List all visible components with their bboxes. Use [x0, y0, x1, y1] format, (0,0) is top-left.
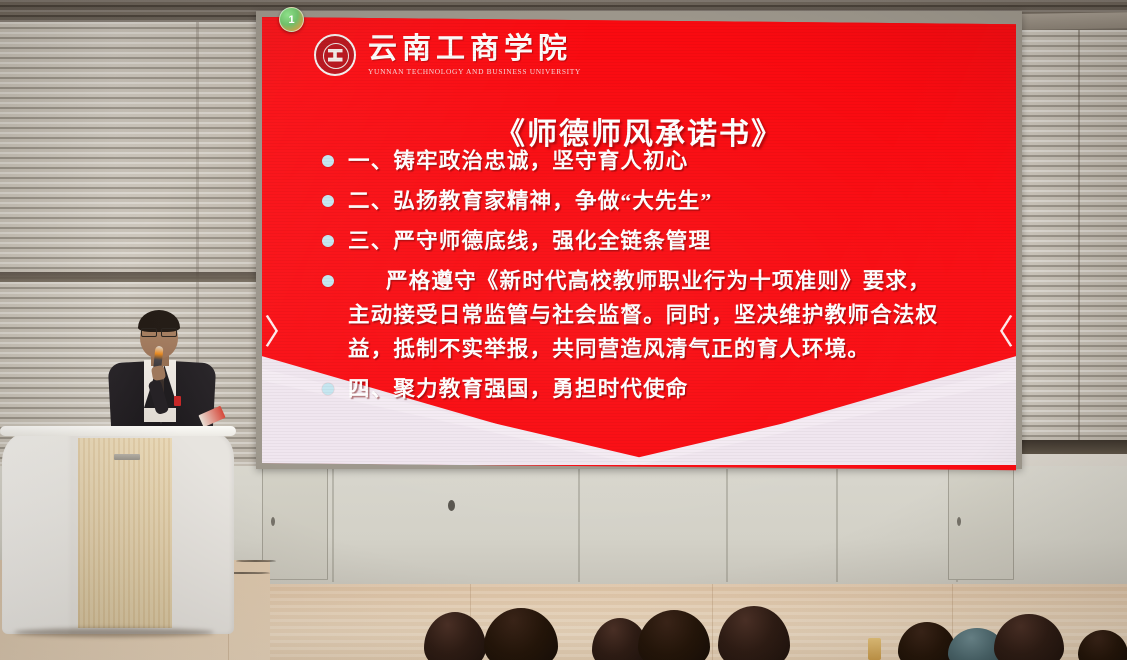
bullet-text: 一、铸牢政治忠诚，坚守育人初心	[348, 145, 689, 179]
chevron-left-ornament-icon: 〈	[980, 317, 1014, 351]
university-seal-icon	[314, 34, 356, 76]
chevron-right-ornament-icon: 〉	[264, 317, 298, 351]
bullet-dot-icon	[322, 383, 334, 395]
bullet-text: 二、弘扬教育家精神，争做“大先生”	[348, 185, 712, 219]
lectern-nameplate	[114, 454, 140, 460]
access-door-left[interactable]	[262, 468, 328, 580]
led-screen[interactable]: 云南工商学院 YUNNAN TECHNOLOGY AND BUSINESS UN…	[262, 17, 1016, 470]
audience-head	[484, 608, 558, 660]
wall-blemish	[448, 500, 455, 511]
bullet-dot-icon	[322, 275, 334, 287]
list-item: 严格遵守《新时代高校教师职业行为十项准则》要求，主动接受日常监管与社会监督。同时…	[322, 265, 984, 367]
floor-cable	[236, 560, 276, 562]
bullet-text: 四、聚力教育强国，勇担时代使命	[348, 373, 689, 407]
wall-rail	[0, 272, 258, 282]
lower-wall-seam	[332, 466, 334, 582]
audience-phone	[868, 638, 881, 660]
audience-head	[994, 614, 1064, 660]
wall-right-slats	[1018, 30, 1127, 470]
bullet-dot-icon	[322, 195, 334, 207]
bullet-paragraph-text: 严格遵守《新时代高校教师职业行为十项准则》要求，主动接受日常监管与社会监督。同时…	[348, 265, 948, 367]
eyeglasses-icon	[140, 328, 178, 336]
bullet-text: 三、严守师德底线，强化全链条管理	[348, 225, 711, 259]
university-name-en: YUNNAN TECHNOLOGY AND BUSINESS UNIVERSIT…	[368, 67, 581, 76]
lectern-top-surface	[0, 426, 236, 436]
audience-head	[1078, 630, 1127, 660]
seal-glyph	[328, 49, 343, 62]
list-item: 三、严守师德底线，强化全链条管理	[322, 225, 984, 259]
access-door-right[interactable]	[948, 468, 1014, 580]
list-item: 二、弘扬教育家精神，争做“大先生”	[322, 185, 984, 219]
presenter	[96, 306, 228, 446]
list-item: 一、铸牢政治忠诚，坚守育人初心	[322, 145, 984, 179]
seated-audience	[0, 596, 1127, 660]
bullet-dot-icon	[322, 155, 334, 167]
list-item: 四、聚力教育强国，勇担时代使命	[322, 373, 984, 407]
lower-wall-seam	[836, 466, 838, 582]
hand	[151, 365, 166, 381]
wall-right-base-trim	[1018, 440, 1127, 454]
lower-wall-seam	[726, 466, 728, 582]
university-name-cn: 云南工商学院	[368, 34, 581, 64]
step-badge: 1	[279, 7, 304, 32]
slide-bullet-list: 一、铸牢政治忠诚，坚守育人初心 二、弘扬教育家精神，争做“大先生” 三、严守师德…	[322, 145, 984, 413]
audience-head	[424, 612, 486, 660]
lower-wall-seam	[578, 466, 580, 582]
presentation-slide: 云南工商学院 YUNNAN TECHNOLOGY AND BUSINESS UN…	[262, 17, 1016, 463]
audience-head	[638, 610, 710, 660]
bullet-dot-icon	[322, 235, 334, 247]
wall-right	[1018, 30, 1127, 470]
wall-right-seam	[1078, 30, 1080, 470]
lapel-badge	[174, 396, 181, 406]
university-logo: 云南工商学院 YUNNAN TECHNOLOGY AND BUSINESS UN…	[314, 34, 581, 76]
screenshot-root: 云南工商学院 YUNNAN TECHNOLOGY AND BUSINESS UN…	[0, 0, 1127, 660]
audience-head	[718, 606, 790, 660]
